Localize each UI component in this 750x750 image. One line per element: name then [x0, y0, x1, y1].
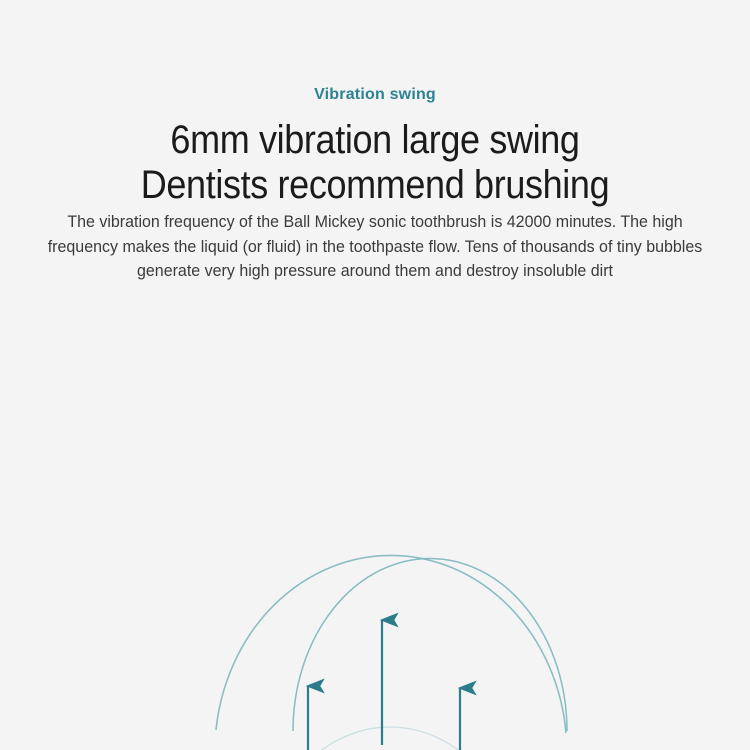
- section-eyebrow-label: Vibration swing: [0, 86, 750, 104]
- vibration-rings: [203, 555, 567, 750]
- vibration-arrows: [308, 620, 460, 750]
- body-paragraph: The vibration frequency of the Ball Mick…: [11, 210, 739, 284]
- page-title: 6mm vibration large swing Dentists recom…: [38, 118, 713, 208]
- toothbrush-illustration: [0, 330, 750, 750]
- headline-line-2: Dentists recommend brushing: [38, 163, 713, 208]
- headline-line-1: 6mm vibration large swing: [170, 118, 579, 162]
- product-feature-page: Vibration swing 6mm vibration large swin…: [0, 0, 750, 750]
